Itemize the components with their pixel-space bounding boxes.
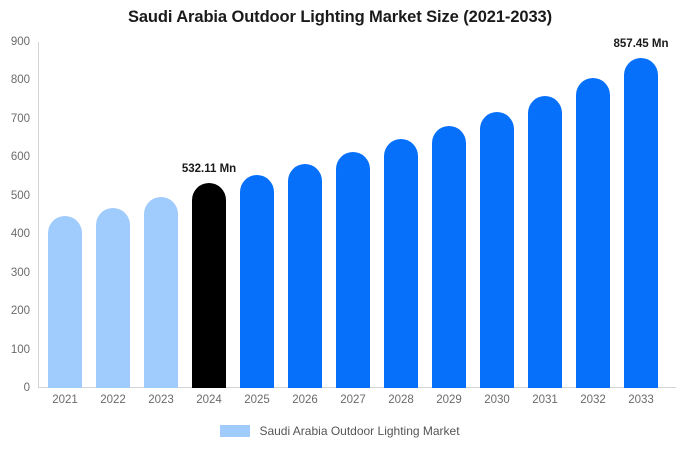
- bar-2021[interactable]: [48, 216, 82, 388]
- bar-2022[interactable]: [96, 208, 130, 388]
- legend-swatch-icon: [220, 425, 250, 437]
- y-tick-label: 700: [11, 113, 30, 125]
- bar-2032[interactable]: [576, 78, 610, 388]
- bar-chart: Saudi Arabia Outdoor Lighting Market Siz…: [0, 0, 680, 450]
- bar-2029[interactable]: [432, 126, 466, 388]
- plot-area: 0100200300400500600700800900 532.11 Mn85…: [38, 42, 676, 388]
- legend-label: Saudi Arabia Outdoor Lighting Market: [259, 424, 459, 438]
- y-tick-label: 600: [11, 151, 30, 163]
- bar-2024[interactable]: [192, 183, 226, 388]
- bar-2027[interactable]: [336, 152, 370, 388]
- bar-2026[interactable]: [288, 164, 322, 388]
- bar-2030[interactable]: [480, 112, 514, 388]
- y-tick-label: 100: [11, 344, 30, 356]
- y-tick-label: 200: [11, 305, 30, 317]
- bar-2028[interactable]: [384, 139, 418, 388]
- bar-2031[interactable]: [528, 96, 562, 388]
- data-label-2024: 532.11 Mn: [182, 163, 236, 175]
- bar-2033[interactable]: [624, 58, 658, 388]
- bar-2025[interactable]: [240, 175, 274, 388]
- y-tick-label: 500: [11, 190, 30, 202]
- y-tick-label: 400: [11, 228, 30, 240]
- y-tick-label: 900: [11, 36, 30, 48]
- y-axis-line: [38, 42, 39, 388]
- y-tick-label: 300: [11, 267, 30, 279]
- chart-title: Saudi Arabia Outdoor Lighting Market Siz…: [0, 8, 680, 27]
- y-tick-label: 0: [24, 382, 30, 394]
- chart-legend: Saudi Arabia Outdoor Lighting Market: [0, 424, 680, 438]
- y-tick-label: 800: [11, 74, 30, 86]
- x-tick-label-2033: 2033: [611, 394, 671, 406]
- data-label-2033: 857.45 Mn: [614, 38, 669, 50]
- bar-2023[interactable]: [144, 197, 178, 388]
